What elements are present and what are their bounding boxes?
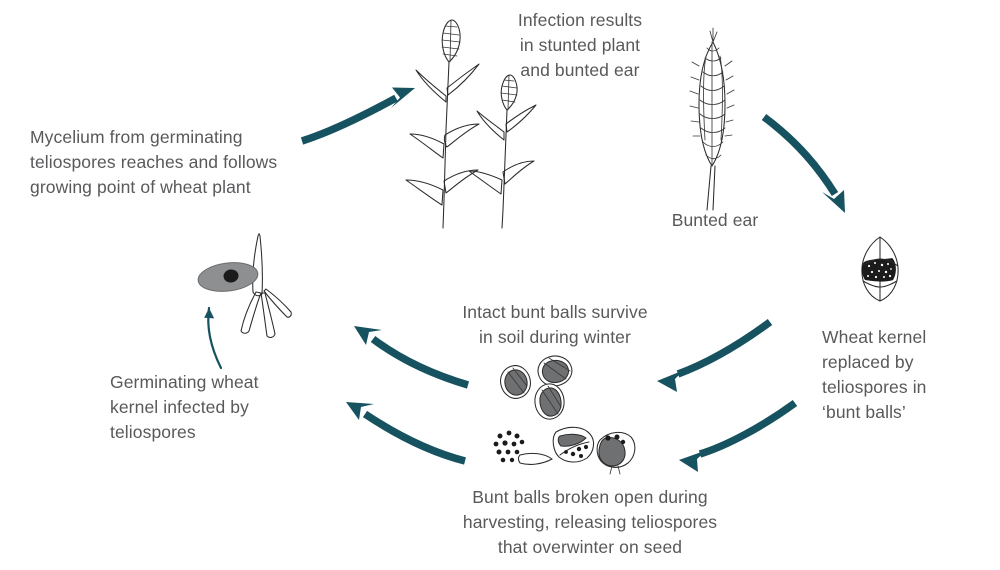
- label-wheat-kernel-replaced: Wheat kernel replaced by teliospores in …: [822, 325, 992, 425]
- arrow-label-to-germ-kernel: [208, 308, 221, 368]
- disease-cycle-diagram: Infection results in stunted plant and b…: [0, 0, 1000, 570]
- label-mycelium-from-germinating: Mycelium from germinating teliospores re…: [30, 125, 330, 200]
- bunted-wheat-ear-illustration: [690, 28, 734, 210]
- label-bunted-ear: Bunted ear: [640, 208, 790, 233]
- arrow-kernel-to-broken-balls: [679, 403, 795, 472]
- label-bunt-balls-broken: Bunt balls broken open during harvesting…: [420, 485, 760, 560]
- germinating-wheat-kernel-illustration: [197, 234, 292, 368]
- arrow-broken-balls-to-germ: [346, 402, 465, 461]
- broken-bunt-balls-illustration: [494, 427, 635, 474]
- label-intact-bunt-balls: Intact bunt balls survive in soil during…: [425, 300, 685, 350]
- intact-bunt-balls-illustration: [501, 356, 572, 419]
- label-germinating-wheat-kernel: Germinating wheat kernel infected by tel…: [110, 370, 320, 445]
- label-infection-results: Infection results in stunted plant and b…: [470, 8, 690, 83]
- bunt-ball-kernel-illustration: [862, 237, 898, 301]
- arrow-bunted-ear-to-kernel: [764, 117, 845, 213]
